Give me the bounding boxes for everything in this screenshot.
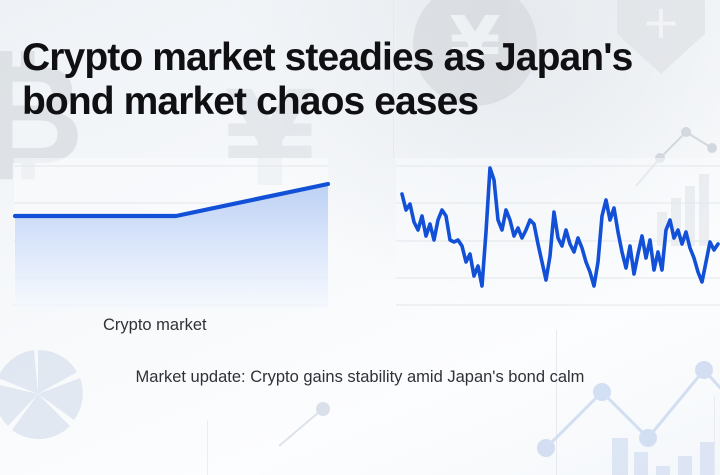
crypto-market-chart-label: Crypto market <box>103 316 207 335</box>
crypto-market-chart: Crypto market <box>0 158 340 348</box>
page-title: Crypto market steadies as Japan's bond m… <box>22 36 694 124</box>
decorative-vline-4 <box>714 396 715 475</box>
decorative-vline-3 <box>207 420 208 475</box>
japan-bond-market-chart: Japan bond market <box>392 158 720 348</box>
decorative-vline-2 <box>556 330 557 475</box>
line-chart-dot-icon-3 <box>275 390 425 450</box>
caption-text: Market update: Crypto gains stability am… <box>0 368 720 387</box>
infographic-card: ₿ ¥ ¥ + <box>0 0 720 475</box>
pie-chart-icon <box>0 348 84 440</box>
japan-bond-market-plot <box>392 158 720 308</box>
charts-region: Crypto market Japan bond market <box>0 158 720 348</box>
crypto-market-plot <box>0 158 340 308</box>
